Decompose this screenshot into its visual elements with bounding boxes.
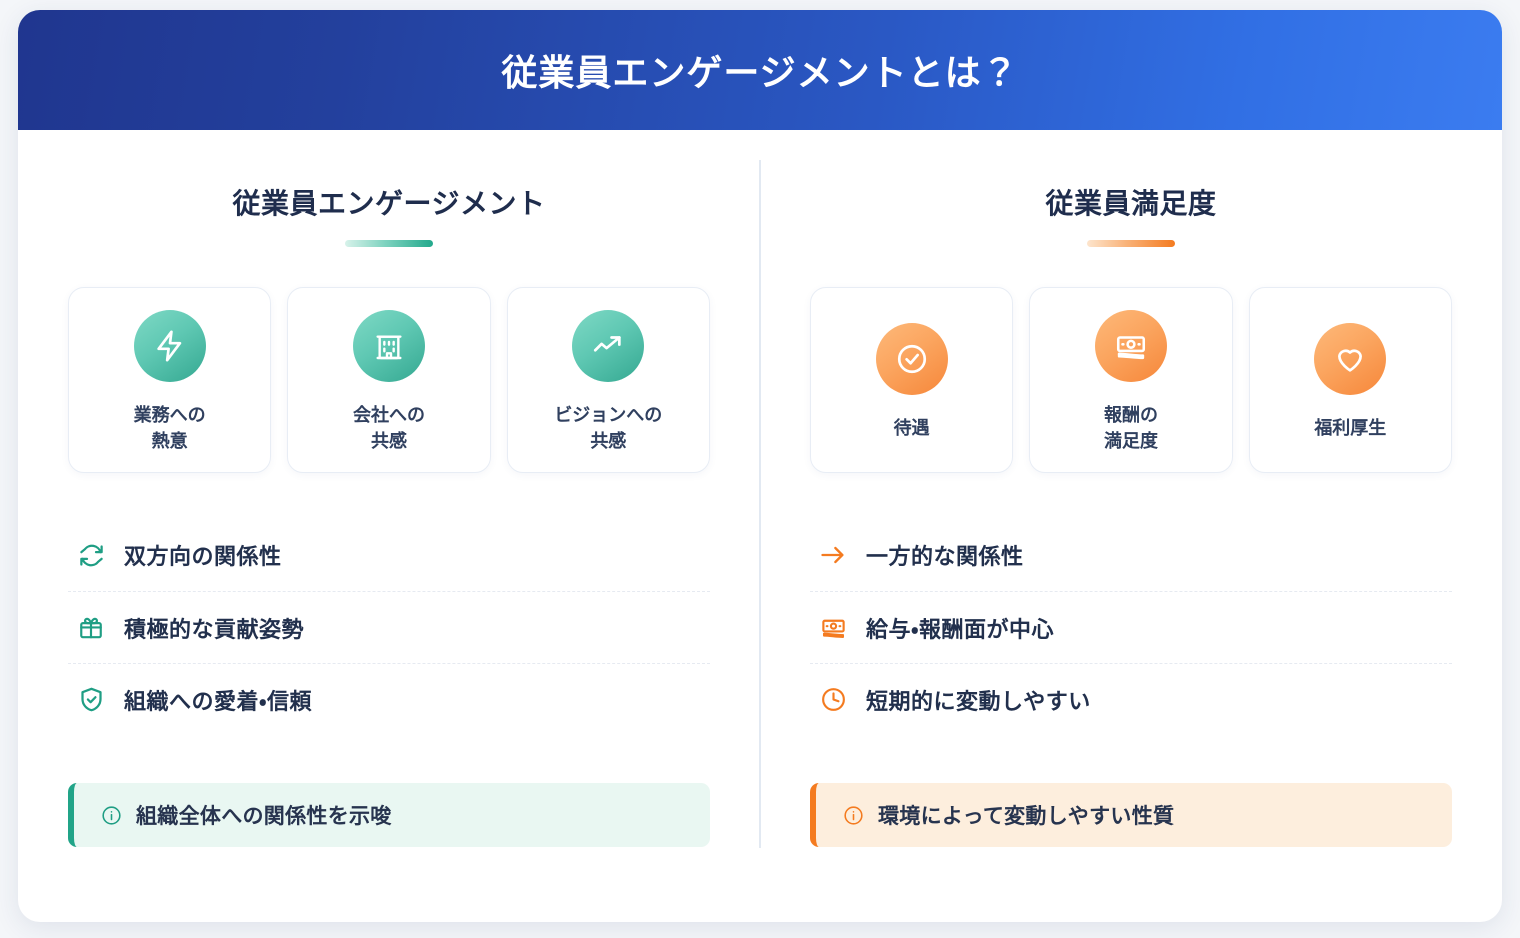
list-item-label: 積極的な貢献姿勢 [124, 612, 304, 644]
list-item: 短期的に変動しやすい [810, 663, 1452, 735]
feature-card-benefits[interactable]: 福利厚生 [1249, 287, 1452, 473]
bullet-list-engagement: 双方向の関係性 積極的な貢献姿勢 [68, 519, 710, 735]
icon-circle [134, 310, 206, 382]
info-circle-icon [100, 804, 122, 826]
note-text: 組織全体への関係性を示唆 [136, 800, 392, 830]
info-circle-icon [842, 804, 864, 826]
comparison-body: 従業員エンゲージメント 業務への 熱意 [18, 130, 1502, 922]
zap-icon [153, 329, 187, 363]
check-circle-icon [895, 342, 929, 376]
banknote-icon [1114, 329, 1148, 363]
feature-card-vision-empathy[interactable]: ビジョンへの 共感 [507, 287, 710, 473]
list-item-label: 給与・報酬面が中心 [866, 612, 1054, 644]
feature-card-reward-satisfaction[interactable]: 報酬の 満足度 [1029, 287, 1232, 473]
feature-card-company-empathy[interactable]: 会社への 共感 [287, 287, 490, 473]
column-satisfaction: 従業員満足度 待遇 [760, 130, 1502, 922]
gift-icon [76, 613, 106, 643]
feature-card-label: 福利厚生 [1314, 415, 1386, 441]
shield-check-icon [76, 685, 106, 715]
refresh-cw-icon [76, 540, 106, 570]
icon-circle [1314, 323, 1386, 395]
feature-cards-engagement: 業務への 熱意 [68, 287, 710, 473]
feature-cards-satisfaction: 待遇 [810, 287, 1452, 473]
bullet-list-satisfaction: 一方的な関係性 [810, 519, 1452, 735]
list-item-label: 短期的に変動しやすい [866, 684, 1091, 716]
page-title: 従業員エンゲージメントとは？ [501, 44, 1018, 96]
icon-circle [876, 323, 948, 395]
arrow-right-icon [818, 540, 848, 570]
note-box-engagement: 組織全体への関係性を示唆 [68, 783, 710, 847]
column-title-engagement: 従業員エンゲージメント [68, 182, 710, 222]
trending-up-icon [591, 329, 625, 363]
banknote-icon [818, 613, 848, 643]
main-card: 従業員エンゲージメントとは？ 従業員エンゲージメント [18, 10, 1502, 922]
feature-card-label: 待遇 [894, 415, 930, 441]
note-text: 環境によって変動しやすい性質 [878, 800, 1174, 830]
heart-icon [1333, 342, 1367, 376]
column-title-satisfaction: 従業員満足度 [810, 182, 1452, 222]
list-item: 給与・報酬面が中心 [810, 591, 1452, 663]
feature-card-label: ビジョンへの 共感 [554, 402, 662, 454]
list-item-label: 組織への愛着・信頼 [124, 684, 312, 716]
list-item: 積極的な貢献姿勢 [68, 591, 710, 663]
title-underline-teal [345, 240, 433, 247]
feature-card-label: 会社への 共感 [353, 402, 425, 454]
list-item-label: 双方向の関係性 [124, 539, 282, 571]
feature-card-label: 報酬の 満足度 [1104, 402, 1158, 454]
note-box-satisfaction: 環境によって変動しやすい性質 [810, 783, 1452, 847]
feature-card-label: 業務への 熱意 [134, 402, 206, 454]
clock-icon [818, 685, 848, 715]
list-item: 組織への愛着・信頼 [68, 663, 710, 735]
feature-card-work-enthusiasm[interactable]: 業務への 熱意 [68, 287, 271, 473]
feature-card-treatment[interactable]: 待遇 [810, 287, 1013, 473]
header-banner: 従業員エンゲージメントとは？ [18, 10, 1502, 130]
list-item: 双方向の関係性 [68, 519, 710, 591]
column-divider [759, 160, 761, 848]
list-item-label: 一方的な関係性 [866, 539, 1024, 571]
icon-circle [353, 310, 425, 382]
infographic-page: 従業員エンゲージメントとは？ 従業員エンゲージメント [0, 0, 1520, 938]
icon-circle [572, 310, 644, 382]
icon-circle [1095, 310, 1167, 382]
list-item: 一方的な関係性 [810, 519, 1452, 591]
title-underline-orange [1087, 240, 1175, 247]
building-icon [373, 330, 405, 362]
column-engagement: 従業員エンゲージメント 業務への 熱意 [18, 130, 760, 922]
